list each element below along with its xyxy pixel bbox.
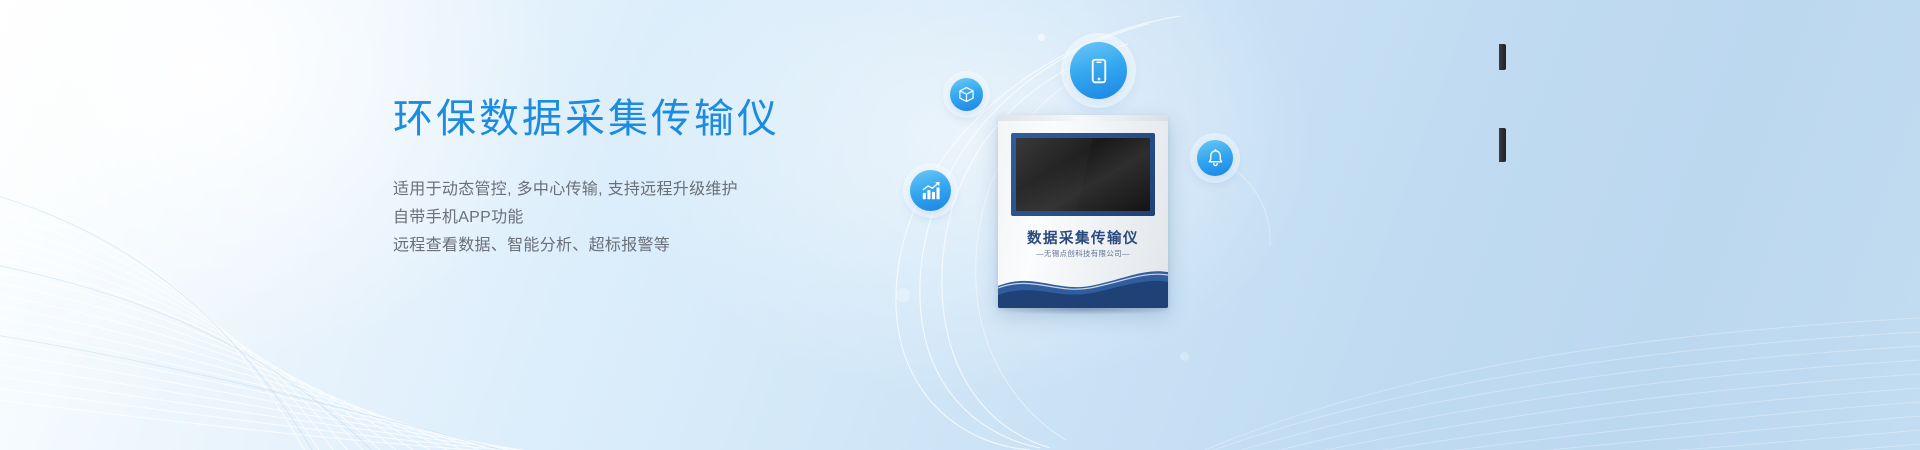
hero-description-line-2: 自带手机APP功能 [393, 204, 913, 232]
hero-description-line-3: 远程查看数据、智能分析、超标报警等 [393, 232, 913, 260]
device-screen-bezel [1011, 133, 1155, 216]
mobile-phone-icon[interactable] [1070, 42, 1127, 99]
decorative-dot [896, 288, 910, 302]
device-company-label: —无锡点创科技有限公司— [998, 248, 1168, 259]
package-box-icon[interactable] [950, 78, 983, 111]
hero-text-block: 环保数据采集传输仪 适用于动态管控, 多中心传输, 支持远程升级维护 自带手机A… [393, 95, 913, 260]
orbit-arcs [880, 0, 1500, 450]
page-title: 环保数据采集传输仪 [393, 95, 913, 143]
hero-description-line-1: 适用于动态管控, 多中心传输, 支持远程升级维护 [393, 176, 913, 204]
hero-description: 适用于动态管控, 多中心传输, 支持远程升级维护 自带手机APP功能 远程查看数… [393, 176, 913, 260]
chart-growth-icon[interactable] [910, 170, 951, 211]
alarm-bell-icon[interactable] [1197, 140, 1233, 176]
device-wave-graphic [998, 266, 1168, 308]
device-top-bar [998, 115, 1168, 121]
hero-banner: 环保数据采集传输仪 适用于动态管控, 多中心传输, 支持远程升级维护 自带手机A… [0, 0, 1920, 450]
device-side-port-top [1499, 44, 1506, 70]
device-screen [1016, 138, 1150, 211]
device-side-port-bottom [1499, 128, 1506, 162]
data-acquisition-device: 数据采集传输仪 —无锡点创科技有限公司— [998, 115, 1168, 308]
decorative-dot [1180, 352, 1189, 361]
product-visual: 数据采集传输仪 —无锡点创科技有限公司— [880, 0, 1500, 450]
decorative-dot [1038, 34, 1045, 41]
device-brand-label: 数据采集传输仪 [998, 227, 1168, 248]
